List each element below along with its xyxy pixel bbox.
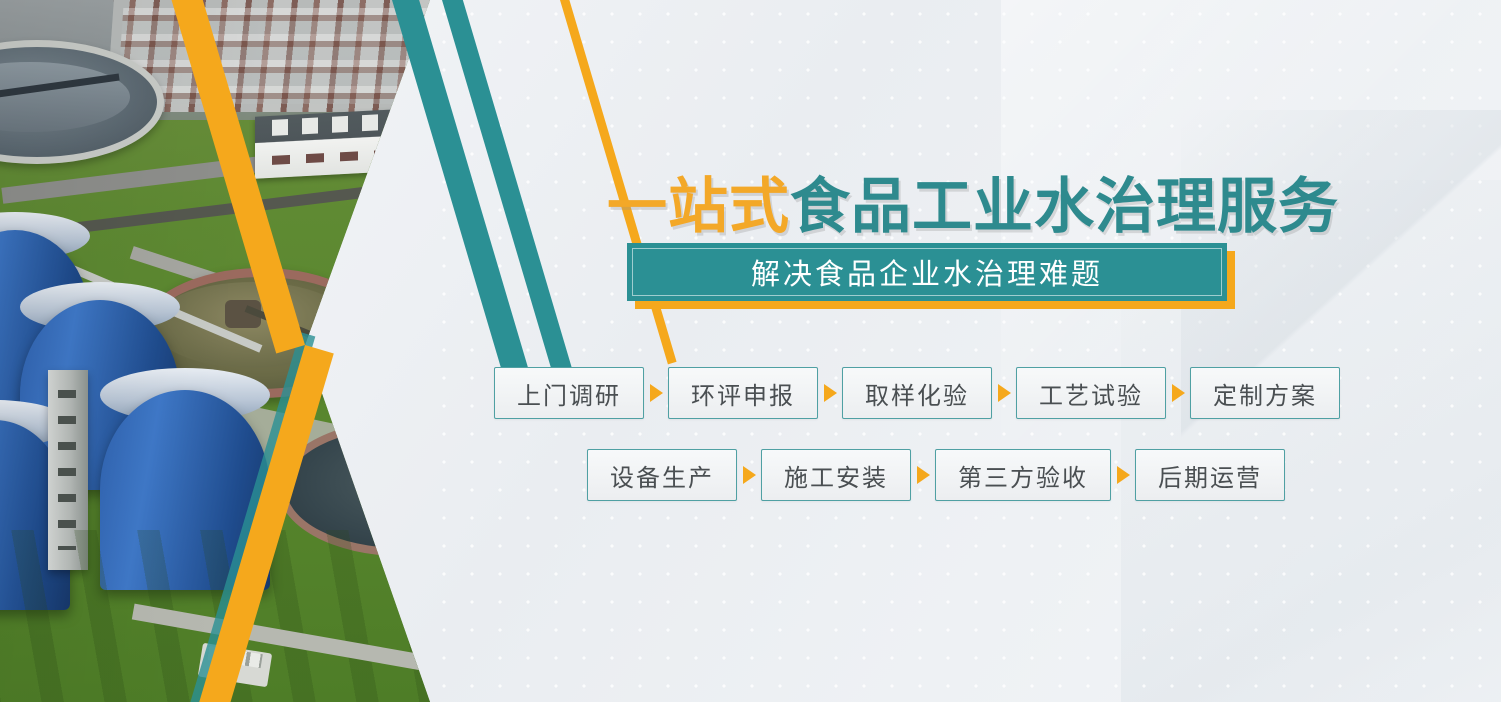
process-flow: 上门调研 环评申报 取样化验 工艺试验 定制方案 设备生产 施工安装 第三方验收… xyxy=(0,366,1501,530)
triangle-right-icon xyxy=(1166,367,1190,419)
process-row-2: 设备生产 施工安装 第三方验收 后期运营 xyxy=(0,448,1501,502)
triangle-right-icon xyxy=(992,367,1016,419)
process-step-shangmendiaoyan[interactable]: 上门调研 xyxy=(494,367,644,419)
process-step-shigonganzhuang[interactable]: 施工安装 xyxy=(761,449,911,501)
hero-banner: 一站式食品工业水治理服务 解决食品企业水治理难题 上门调研 环评申报 取样化验 … xyxy=(0,0,1501,702)
process-step-gongyishiyan[interactable]: 工艺试验 xyxy=(1016,367,1166,419)
subtitle-band: 解决食品企业水治理难题 xyxy=(627,243,1227,301)
process-step-dingzhifangan[interactable]: 定制方案 xyxy=(1190,367,1340,419)
triangle-right-icon xyxy=(644,367,668,419)
process-step-huangpingshenbao[interactable]: 环评申报 xyxy=(668,367,818,419)
process-step-disanfangyanshou[interactable]: 第三方验收 xyxy=(935,449,1111,501)
process-step-quyanghuayan[interactable]: 取样化验 xyxy=(842,367,992,419)
triangle-right-icon xyxy=(1111,449,1135,501)
triangle-right-icon xyxy=(911,449,935,501)
banner-title-highlight: 一站式 xyxy=(607,173,790,240)
banner-subtitle-wrap: 解决食品企业水治理难题 xyxy=(627,243,1227,301)
process-step-houqiyunying[interactable]: 后期运营 xyxy=(1135,449,1285,501)
triangle-right-icon xyxy=(737,449,761,501)
triangle-right-icon xyxy=(818,367,842,419)
banner-subtitle: 解决食品企业水治理难题 xyxy=(751,251,1103,293)
banner-content: 一站式食品工业水治理服务 解决食品企业水治理难题 上门调研 环评申报 取样化验 … xyxy=(0,0,1501,702)
banner-title: 一站式食品工业水治理服务 xyxy=(607,158,1339,245)
banner-title-rest: 食品工业水治理服务 xyxy=(790,173,1339,240)
process-step-shebeishengchan[interactable]: 设备生产 xyxy=(587,449,737,501)
process-row-1: 上门调研 环评申报 取样化验 工艺试验 定制方案 xyxy=(0,366,1501,420)
